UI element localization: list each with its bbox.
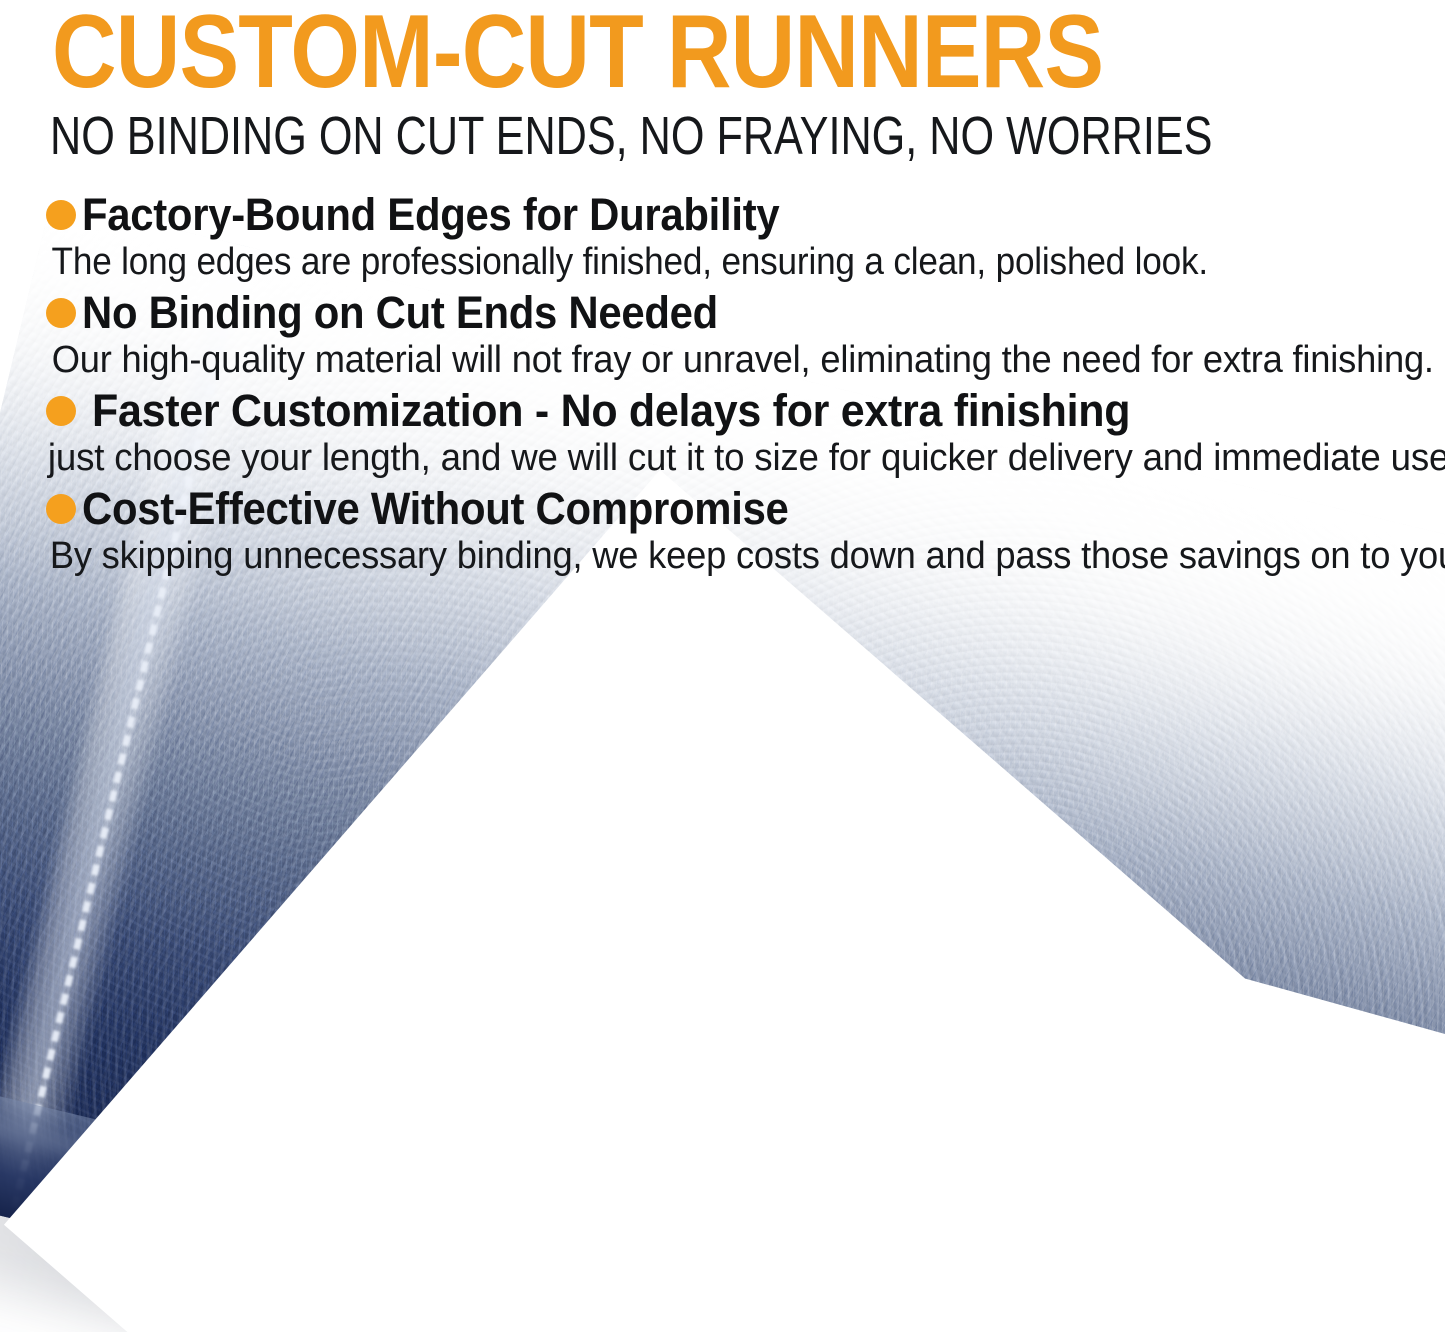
feature-description: just choose your length, and we will cut… xyxy=(46,436,1387,480)
feature-description: By skipping unnecessary binding, we keep… xyxy=(46,534,1373,578)
feature-title: Factory-Bound Edges for Durability xyxy=(82,190,779,240)
feature-title: Cost-Effective Without Compromise xyxy=(82,484,789,534)
feature-description: The long edges are professionally finish… xyxy=(46,240,1332,284)
feature-heading: No Binding on Cut Ends Needed xyxy=(46,288,1436,338)
list-item: No Binding on Cut Ends Needed Our high-q… xyxy=(46,288,1436,382)
feature-heading: Factory-Bound Edges for Durability xyxy=(46,190,1436,240)
page-subtitle: NO BINDING ON CUT ENDS, NO FRAYING, NO W… xyxy=(50,108,1122,164)
feature-list: Factory-Bound Edges for Durability The l… xyxy=(46,190,1436,582)
feature-title: Faster Customization - No delays for ext… xyxy=(92,386,1130,436)
feature-description: Our high-quality material will not fray … xyxy=(46,338,1373,382)
list-item: Faster Customization - No delays for ext… xyxy=(46,386,1436,480)
list-item: Factory-Bound Edges for Durability The l… xyxy=(46,190,1436,284)
bullet-dot-icon xyxy=(46,396,76,426)
feature-heading: Faster Customization - No delays for ext… xyxy=(46,386,1436,436)
bullet-dot-icon xyxy=(46,494,76,524)
feature-heading: Cost-Effective Without Compromise xyxy=(46,484,1436,534)
promotional-image: CUSTOM-CUT RUNNERS NO BINDING ON CUT END… xyxy=(0,0,1445,1332)
page-title: CUSTOM-CUT RUNNERS xyxy=(52,4,1204,100)
feature-title: No Binding on Cut Ends Needed xyxy=(82,288,718,338)
bullet-dot-icon xyxy=(46,200,76,230)
bullet-dot-icon xyxy=(46,298,76,328)
list-item: Cost-Effective Without Compromise By ski… xyxy=(46,484,1436,578)
text-overlay: CUSTOM-CUT RUNNERS NO BINDING ON CUT END… xyxy=(0,0,1445,1332)
